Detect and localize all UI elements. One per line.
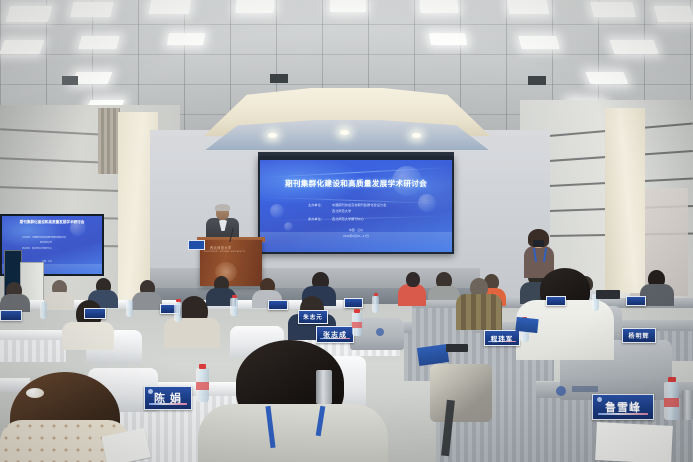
chair-logo xyxy=(556,386,566,396)
ceiling-light-panel xyxy=(609,40,658,54)
name-placard xyxy=(344,298,363,308)
stage-spotlight xyxy=(412,133,421,138)
ceiling-light-panel xyxy=(78,36,119,49)
name-placard: 杨明辉 xyxy=(622,328,656,343)
ceiling-light-panel xyxy=(149,0,191,14)
hair-clip xyxy=(26,388,44,398)
screen-cohost-line: 西北师范大学期刊中心 xyxy=(332,216,364,221)
screen-city: 中国 · 兰州 xyxy=(260,228,452,232)
attendee-head xyxy=(406,272,420,287)
screen-organizer-label: 主办单位： xyxy=(308,202,324,207)
bottle-label xyxy=(664,398,679,407)
attendee-body xyxy=(198,404,388,462)
name-placard xyxy=(626,296,646,306)
side-display-line3: 承办单位：西北师范大学期刊中心 xyxy=(22,247,52,250)
water-bottle xyxy=(40,302,47,319)
name-placard xyxy=(84,308,106,319)
name-placard: 朱志元 xyxy=(298,310,328,324)
table-skirt xyxy=(0,340,66,362)
bag xyxy=(430,364,492,422)
speaker-hair xyxy=(215,204,230,211)
thermos xyxy=(316,370,332,404)
bottle-label xyxy=(196,382,209,390)
name-placard xyxy=(0,310,22,321)
notepad xyxy=(595,422,673,462)
name-placard: 程玮军 xyxy=(484,330,520,346)
name-placard: 张志成 xyxy=(316,326,354,343)
laptop xyxy=(596,290,620,299)
bottle-cap xyxy=(374,293,378,296)
screen-decor-bubble xyxy=(270,204,284,218)
smartphone xyxy=(533,240,544,247)
placard-strip xyxy=(598,413,648,415)
laptop xyxy=(446,344,468,352)
water-bottle xyxy=(126,300,133,317)
water-bottle xyxy=(372,296,379,313)
attendee-body xyxy=(398,284,426,306)
bottle-label xyxy=(352,322,362,328)
ceiling-light-panel xyxy=(507,0,549,14)
stage-spotlight xyxy=(268,133,277,138)
attendee-body xyxy=(132,292,162,310)
screen-organizer-line1: 中国期刊协会高校期刊集群化建设分会 xyxy=(332,202,386,207)
water-bottle xyxy=(196,368,209,402)
ceiling-vent xyxy=(62,76,78,85)
podium-institution: 西北师范大学 xyxy=(210,245,232,250)
ceiling-light-panel xyxy=(518,36,559,49)
screen-title: 期刊集群化建设和高质量发展学术研讨会 xyxy=(260,178,452,189)
podium-institution-sub: NORTHWEST NORMAL UNIVERSITY xyxy=(204,251,246,253)
bottle-cap xyxy=(232,295,237,298)
side-display-title: 期刊集群化建设和高质量发展学术研讨会 xyxy=(2,220,102,225)
ceiling-light-panel xyxy=(6,6,53,22)
name-placard: 鲁雪峰 xyxy=(592,394,654,420)
ceiling-light-panel xyxy=(167,33,205,45)
name-placard: 陈 娟 xyxy=(144,386,192,410)
thermos xyxy=(682,390,693,420)
placard-logo xyxy=(597,397,602,402)
name-placard xyxy=(546,296,566,306)
water-bottle xyxy=(230,298,238,316)
right-pillar xyxy=(605,108,645,293)
attendee-body xyxy=(456,294,502,330)
ceiling-light-panel xyxy=(590,2,635,17)
ceiling-vent xyxy=(528,76,546,85)
ceiling-light-panel xyxy=(419,0,458,13)
conference-hall-photo: · · · · · · · · · · 期刊集群化建设和高质量发展学术研讨会 主… xyxy=(0,0,693,462)
name-placard xyxy=(268,300,288,310)
ceiling-light-panel xyxy=(0,40,45,54)
stage-name-card xyxy=(188,240,205,250)
side-display-line1: 主办单位：中国期刊协会高校期刊集群化建设分会 xyxy=(22,236,66,239)
placard-name: 杨明辉 xyxy=(628,331,649,340)
side-display-line2: 西北师范大学 xyxy=(40,241,52,244)
screen-cohost-label: 承办单位： xyxy=(308,216,324,221)
placard-strip xyxy=(488,341,516,342)
water-bottle xyxy=(664,382,679,420)
placard-strip xyxy=(149,403,187,405)
stage-spotlight xyxy=(340,130,349,135)
screen-date: 2025年9月15—17日 xyxy=(260,234,452,238)
water-bottle xyxy=(352,312,362,336)
attendee-body xyxy=(44,292,74,310)
screen-decor-wave xyxy=(260,167,452,178)
bottle-cap xyxy=(668,377,676,382)
curtain xyxy=(98,108,120,174)
main-led-screen: 期刊集群化建设和高质量发展学术研讨会 主办单位： 中国期刊协会高校期刊集群化建设… xyxy=(260,160,452,252)
bottle-cap xyxy=(354,309,360,313)
bottle-cap xyxy=(199,364,206,369)
chair-logo-text xyxy=(572,386,598,392)
water-bottle xyxy=(174,302,182,322)
ceiling-light-panel xyxy=(330,0,366,12)
ceiling-light-panel xyxy=(654,6,693,22)
chair-logo xyxy=(376,328,384,336)
placard-logo xyxy=(148,389,153,394)
placard-name: 朱志元 xyxy=(303,313,323,321)
placard-strip xyxy=(320,338,350,339)
bottle-cap xyxy=(176,299,181,302)
attendee-body xyxy=(164,318,220,348)
conference-booklet xyxy=(515,317,538,333)
ceiling-light-panel xyxy=(70,2,113,17)
ceiling-vent xyxy=(270,74,288,83)
ceiling-light-panel xyxy=(235,0,274,13)
screen-organizer-line2: 西北师范大学 xyxy=(332,208,351,213)
attendee-body xyxy=(62,322,114,350)
ceiling-light-panel xyxy=(429,33,467,45)
ceiling-light-panel xyxy=(586,72,629,84)
